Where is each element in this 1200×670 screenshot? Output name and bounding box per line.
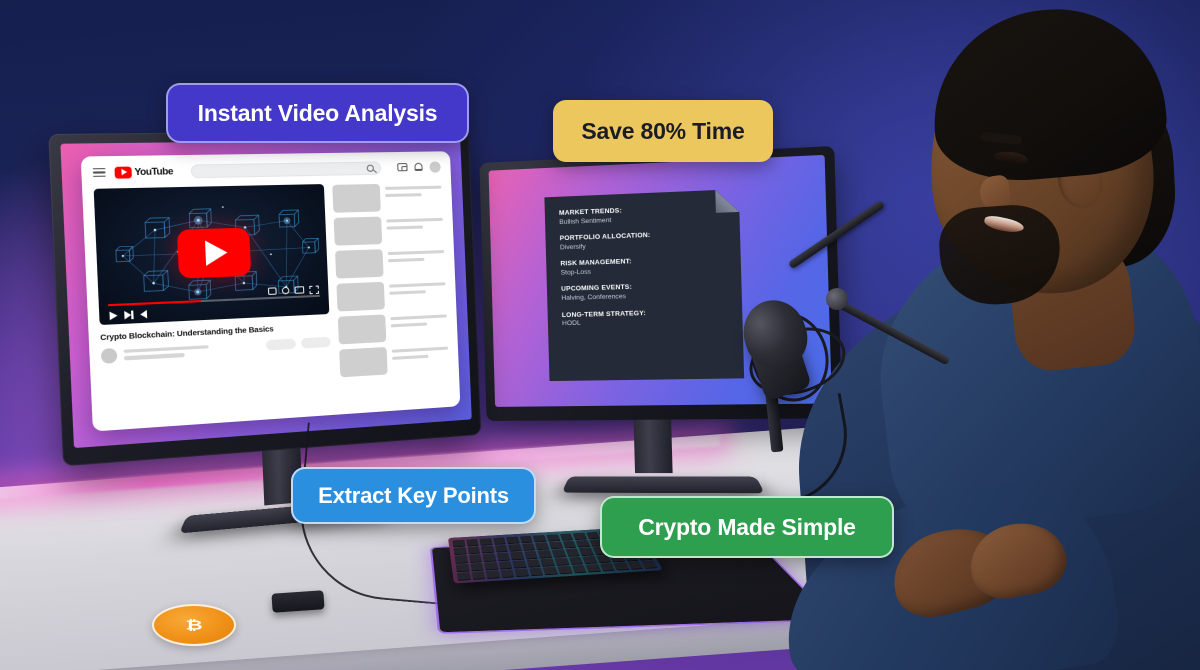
youtube-browser-window[interactable]: YouTube — [81, 151, 461, 431]
note-item: MARKET TRENDS: Bullish Sentiment — [559, 203, 725, 228]
video-action-buttons[interactable] — [265, 336, 330, 350]
left-monitor: YouTube — [48, 130, 481, 466]
play-button-icon[interactable] — [177, 227, 251, 278]
thumbnail — [337, 314, 386, 344]
player-controls-left — [109, 310, 146, 320]
badge-instant-video-analysis[interactable]: Instant Video Analysis — [166, 83, 469, 143]
notes-card: MARKET TRENDS: Bullish Sentiment PORTFOL… — [544, 189, 744, 381]
list-item[interactable] — [336, 279, 446, 311]
play-icon[interactable] — [109, 311, 117, 320]
note-item: LONG-TERM STRATEGY: HODL — [562, 307, 728, 329]
thumbnail — [335, 249, 384, 278]
list-item[interactable] — [333, 215, 444, 246]
recommended-sidebar[interactable] — [332, 182, 450, 407]
channel-meta-placeholder — [124, 342, 260, 360]
left-monitor-screen[interactable]: YouTube — [60, 139, 471, 448]
bitcoin-symbol: ₿ — [185, 618, 202, 631]
theater-mode-icon[interactable] — [294, 287, 304, 294]
search-input[interactable] — [191, 161, 382, 178]
header-actions — [397, 161, 441, 173]
list-item[interactable] — [335, 247, 445, 279]
settings-gear-icon[interactable] — [281, 287, 289, 295]
thumbnail — [339, 347, 387, 377]
video-player[interactable] — [94, 184, 329, 325]
mic-boom-joint — [826, 288, 848, 310]
youtube-logo-text: YouTube — [134, 166, 173, 177]
thumbnail — [333, 217, 382, 246]
badge-extract-key-points[interactable]: Extract Key Points — [291, 467, 536, 524]
list-item[interactable] — [337, 311, 447, 344]
bell-icon[interactable] — [414, 163, 422, 171]
desk-accessory — [271, 590, 324, 613]
channel-avatar[interactable] — [101, 348, 118, 364]
right-monitor-stand-neck — [634, 420, 673, 474]
thumbnail — [332, 184, 381, 213]
note-item: RISK MANAGEMENT: Stop-Loss — [560, 255, 726, 278]
youtube-body: Crypto Blockchain: Understanding the Bas… — [82, 181, 460, 431]
note-item: PORTFOLIO ALLOCATION: Diversify — [560, 229, 726, 253]
bitcoin-icon: ₿ — [152, 604, 236, 646]
youtube-play-mark-icon — [114, 166, 132, 178]
badge-crypto-made-simple[interactable]: Crypto Made Simple — [600, 496, 894, 558]
avatar[interactable] — [429, 161, 440, 172]
list-item[interactable] — [332, 183, 443, 213]
video-meta-row — [101, 336, 331, 363]
scene: MARKET TRENDS: Bullish Sentiment PORTFOL… — [0, 0, 1200, 670]
next-icon[interactable] — [124, 310, 133, 319]
thumbnail — [336, 282, 385, 312]
note-item: UPCOMING EVENTS: Halving, Conferences — [561, 281, 727, 304]
person — [780, 0, 1200, 670]
badge-save-time[interactable]: Save 80% Time — [553, 100, 773, 162]
create-video-icon[interactable] — [397, 163, 407, 171]
list-item[interactable] — [339, 344, 449, 378]
hair — [925, 0, 1171, 188]
youtube-logo[interactable]: YouTube — [114, 165, 173, 178]
right-monitor-stand-base — [562, 476, 765, 493]
captions-icon[interactable] — [267, 288, 276, 295]
volume-icon[interactable] — [140, 310, 147, 319]
search-icon[interactable] — [367, 164, 374, 171]
hamburger-menu-icon[interactable] — [93, 168, 106, 178]
fullscreen-icon[interactable] — [309, 285, 319, 294]
video-column: Crypto Blockchain: Understanding the Bas… — [94, 184, 333, 422]
